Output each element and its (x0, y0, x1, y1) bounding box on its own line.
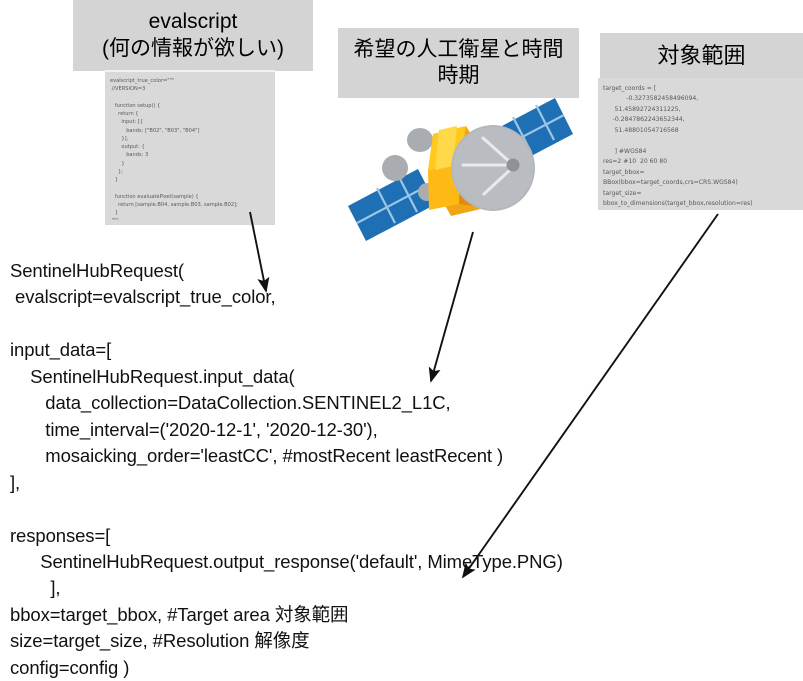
slide-canvas: evalscript (何の情報が欲しい) evalscript_true_co… (0, 0, 803, 661)
callout-header-satellite: 希望の人工衛星と時間 時期 (338, 28, 579, 98)
dish-antenna-icon (451, 125, 535, 211)
callout-header-target-area: 対象範囲 (600, 33, 803, 78)
satellite-illustration (333, 96, 573, 241)
main-code-block: SentinelHubRequest( evalscript=evalscrip… (10, 258, 710, 681)
code-snippet-target-coords: target_coords = [ -0.3273582458496094, 5… (598, 78, 803, 210)
callout-header-evalscript: evalscript (何の情報が欲しい) (73, 0, 313, 71)
code-snippet-evalscript: evalscript_true_color=""" //VERSION=3 fu… (105, 70, 275, 225)
